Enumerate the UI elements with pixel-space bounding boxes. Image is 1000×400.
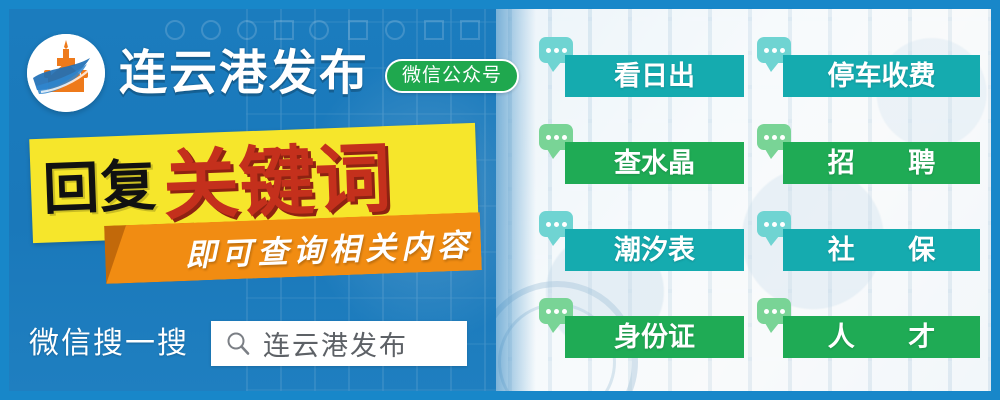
keyword-button-tide-table[interactable]: 潮汐表: [565, 229, 744, 271]
lianyungang-tower-logo-icon: [27, 34, 105, 112]
search-icon: [225, 331, 251, 357]
keyword-button-crystal[interactable]: 查水晶: [565, 142, 744, 184]
keyword-button-recruitment[interactable]: 招 聘: [783, 142, 980, 184]
search-row-label: 微信搜一搜: [29, 329, 189, 359]
keyword-button-parking-fee[interactable]: 停车收费: [783, 55, 980, 97]
keyword-cell-crystal[interactable]: 查水晶: [539, 124, 744, 204]
keyword-button-talent[interactable]: 人 才: [783, 316, 980, 358]
keyword-cell-social-security[interactable]: 社 保: [757, 211, 962, 291]
keyword-button-grid: 看日出 停车收费 查水晶 招 聘 潮汐表 社 保 身份证 人 才: [539, 27, 979, 382]
keyword-cell-recruitment[interactable]: 招 聘: [757, 124, 962, 204]
wechat-official-account-badge: 微信公众号: [385, 59, 519, 93]
search-input[interactable]: 连云港发布: [211, 321, 467, 366]
keyword-cell-kanrichu[interactable]: 看日出: [539, 37, 744, 117]
brand-header: 连云港发布 微信公众号: [27, 34, 519, 112]
brand-title: 连云港发布: [119, 49, 369, 97]
wechat-search-row: 微信搜一搜 连云港发布: [29, 321, 467, 366]
keyword-button-social-security[interactable]: 社 保: [783, 229, 980, 271]
wechat-promo-banner: 连云港发布 微信公众号 回复 关键词 即可查询相关内容 微信搜一搜 连云港发布: [0, 0, 1000, 400]
keyword-button-kanrichu[interactable]: 看日出: [565, 55, 744, 97]
keyword-prefix-text: 回复: [42, 159, 158, 219]
keyword-cell-tide-table[interactable]: 潮汐表: [539, 211, 744, 291]
keyword-cell-talent[interactable]: 人 才: [757, 298, 962, 378]
search-input-value: 连云港发布: [263, 324, 408, 363]
ribbon-text: 即可查询相关内容: [104, 212, 482, 284]
keyword-promo: 回复 关键词 即可查询相关内容: [9, 127, 496, 307]
keyword-highlight-text: 关键词: [162, 140, 393, 224]
keyword-button-id-card[interactable]: 身份证: [565, 316, 744, 358]
keyword-cell-parking-fee[interactable]: 停车收费: [757, 37, 962, 117]
orange-ribbon: 即可查询相关内容: [104, 212, 482, 284]
keyword-cell-id-card[interactable]: 身份证: [539, 298, 744, 378]
